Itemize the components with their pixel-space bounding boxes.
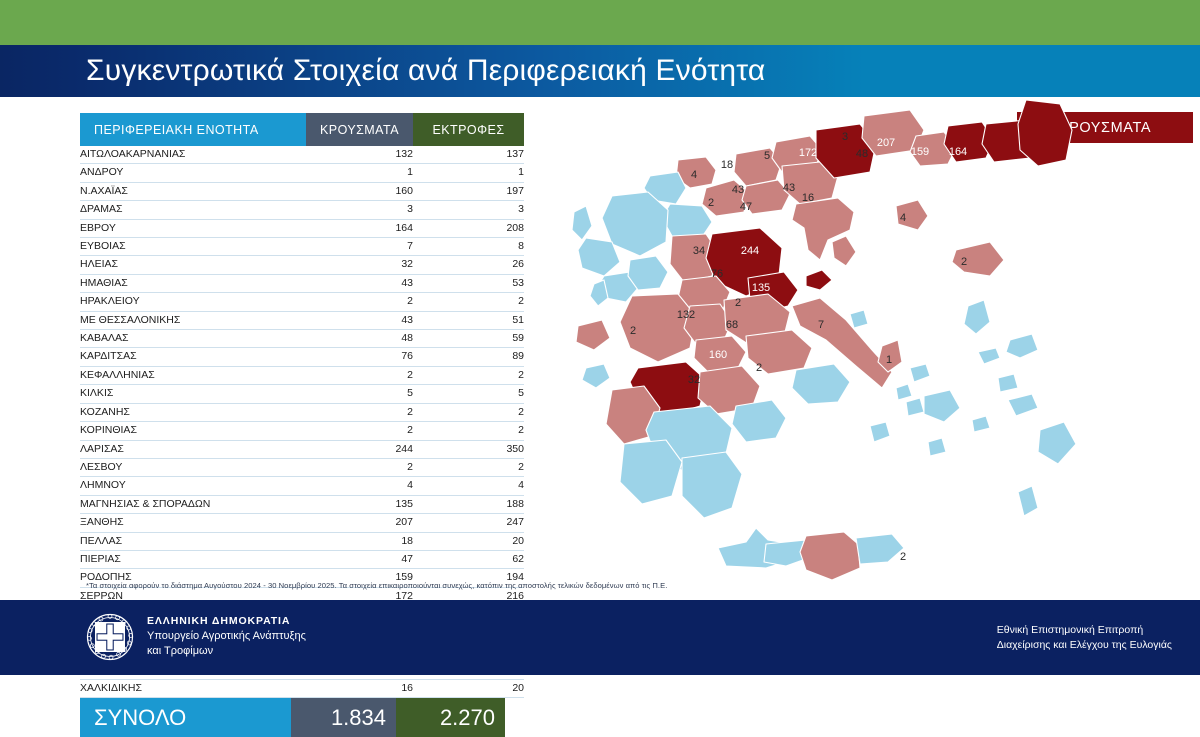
total-cases-value: 1.834	[291, 698, 396, 737]
cell-region: ΕΥΒΟΙΑΣ	[80, 238, 306, 256]
region-kos	[1008, 394, 1038, 416]
region-naxos	[924, 390, 960, 422]
region-zakynthos	[582, 364, 610, 388]
cell-region: ΑΙΤΩΛΟΑΚΑΡΝΑΝΙΑΣ	[80, 146, 306, 164]
title-banner: Συγκεντρωτικά Στοιχεία ανά Περιφερειακή …	[0, 45, 1200, 97]
cell-cases: 2	[306, 403, 413, 421]
committee-line-1: Εθνική Επιστημονική Επιτροπή	[997, 623, 1172, 638]
cell-cases: 43	[306, 274, 413, 292]
cell-region: ΛΕΣΒΟΥ	[80, 458, 306, 476]
cell-culls: 137	[413, 146, 524, 164]
ministry-line-3: και Τροφίμων	[147, 644, 306, 660]
table-row: ΛΗΜΝΟΥ44	[80, 477, 524, 495]
cell-cases: 76	[306, 348, 413, 366]
cell-cases: 2	[306, 458, 413, 476]
region-karpathos	[1018, 486, 1038, 516]
table-row: ΔΡΑΜΑΣ33	[80, 201, 524, 219]
ministry-text-block: ΕΛΛΗΝΙΚΗ ΔΗΜΟΚΡΑΤΙΑ Υπουργείο Αγροτικής …	[147, 614, 306, 660]
region-arta	[628, 256, 668, 290]
ministry-line-2: Υπουργείο Αγροτικής Ανάπτυξης	[147, 629, 306, 645]
region-evros	[1018, 100, 1072, 166]
region-kalymnos	[998, 374, 1018, 392]
cell-cases: 132	[306, 146, 413, 164]
table-row: ΛΕΣΒΟΥ22	[80, 458, 524, 476]
total-row: ΣΥΝΟΛΟ 1.834 2.270	[80, 698, 505, 737]
cell-cases: 43	[306, 311, 413, 329]
greece-choropleth-map: 3172482071591641854434324716423424476135…	[520, 100, 1200, 580]
table-row: ΚΟΖΑΝΗΣ22	[80, 403, 524, 421]
table-row: ΕΒΡΟΥ164208	[80, 219, 524, 237]
cell-cases: 32	[306, 256, 413, 274]
ministry-line-1: ΕΛΛΗΝΙΚΗ ΔΗΜΟΚΡΑΤΙΑ	[147, 614, 306, 629]
footer-ministry-block: ΕΛΛΗΝΙΚΗ ΔΗΜΟΚΡΑΤΙΑ Υπουργείο Αγροτικής …	[86, 613, 306, 661]
cell-region: ΛΗΜΝΟΥ	[80, 477, 306, 495]
region-skyros	[850, 310, 868, 328]
region-thira	[928, 438, 946, 456]
table-row: ΗΜΑΘΙΑΣ4353	[80, 274, 524, 292]
cell-region: ΛΑΡΙΣΑΣ	[80, 440, 306, 458]
cell-culls: 2	[413, 293, 524, 311]
cell-cases: 48	[306, 330, 413, 348]
cell-culls: 3	[413, 201, 524, 219]
cell-region: ΚΕΦΑΛΛΗΝΙΑΣ	[80, 366, 306, 384]
cell-region: ΠΙΕΡΙΑΣ	[80, 550, 306, 568]
cell-culls: 188	[413, 495, 524, 513]
cell-cases: 164	[306, 219, 413, 237]
table-row: ΠΕΛΛΑΣ1820	[80, 532, 524, 550]
region-paros	[906, 398, 924, 416]
table-row: ΠΙΕΡΙΑΣ4762	[80, 550, 524, 568]
region-argolida	[732, 400, 786, 442]
region-kerkyra	[572, 206, 592, 240]
cell-cases: 244	[306, 440, 413, 458]
region-syros	[896, 384, 912, 400]
table-row: ΜΑΓΝΗΣΙΑΣ & ΣΠΟΡΑΔΩΝ135188	[80, 495, 524, 513]
page-title: Συγκεντρωτικά Στοιχεία ανά Περιφερειακή …	[86, 54, 765, 88]
cell-culls: 2	[413, 366, 524, 384]
cell-cases: 47	[306, 550, 413, 568]
cell-region: ΧΑΛΚΙΔΙΚΗΣ	[80, 679, 306, 697]
cell-culls: 51	[413, 311, 524, 329]
table-row: ΚΑΒΑΛΑΣ4859	[80, 330, 524, 348]
greek-republic-emblem-icon	[86, 613, 134, 661]
cell-culls: 59	[413, 330, 524, 348]
region-rodos	[1038, 422, 1076, 464]
cell-region: ΔΡΑΜΑΣ	[80, 201, 306, 219]
region-milos	[870, 422, 890, 442]
cell-culls: 8	[413, 238, 524, 256]
cell-culls: 2	[413, 458, 524, 476]
column-header-culls: ΕΚΤΡΟΦΕΣ	[413, 113, 524, 146]
cell-culls: 89	[413, 348, 524, 366]
column-header-region: ΠΕΡΙΦΕΡΕΙΑΚΗ ΕΝΟΤΗΤΑ	[80, 113, 306, 146]
total-culls-value: 2.270	[396, 698, 505, 737]
total-label: ΣΥΝΟΛΟ	[80, 698, 291, 737]
region-ikaria	[978, 348, 1000, 364]
cell-cases: 1	[306, 164, 413, 182]
cell-culls: 247	[413, 514, 524, 532]
cell-region: ΚΟΡΙΝΘΙΑΣ	[80, 422, 306, 440]
committee-line-2: Διαχείρισης και Ελέγχου της Ευλογιάς	[997, 638, 1172, 653]
region-viotia	[746, 330, 812, 374]
region-chios	[964, 300, 990, 334]
table-row: ΑΙΤΩΛΟΑΚΑΡΝΑΝΙΑΣ132137	[80, 146, 524, 164]
map-svg	[520, 100, 1200, 580]
cell-region: ΑΝΔΡΟΥ	[80, 164, 306, 182]
cell-culls: 20	[413, 532, 524, 550]
footnote-text: *Τα στοιχεία αφορούν το διάστημα Αυγούστ…	[86, 581, 846, 590]
region-attiki	[792, 364, 850, 404]
cell-region: ΠΕΛΛΑΣ	[80, 532, 306, 550]
cell-culls: 208	[413, 219, 524, 237]
region-imathia	[742, 180, 790, 214]
table-row: ΚΑΡΔΙΤΣΑΣ7689	[80, 348, 524, 366]
region-samos	[1006, 334, 1038, 358]
cell-culls: 62	[413, 550, 524, 568]
table-row: ΧΑΛΚΙΔΙΚΗΣ1620	[80, 679, 524, 697]
cell-cases: 4	[306, 477, 413, 495]
cell-culls: 350	[413, 440, 524, 458]
cell-region: ΗΡΑΚΛΕΙΟΥ	[80, 293, 306, 311]
cell-region: ΞΑΝΘΗΣ	[80, 514, 306, 532]
region-kozani	[702, 180, 748, 216]
region-limnos	[896, 200, 928, 230]
region-lakonia	[682, 452, 742, 518]
cell-cases: 135	[306, 495, 413, 513]
cell-cases: 5	[306, 385, 413, 403]
region-lasithi	[856, 534, 904, 564]
cell-region: ΚΙΛΚΙΣ	[80, 385, 306, 403]
region-sporades	[806, 270, 832, 290]
table-row: ΚΟΡΙΝΘΙΑΣ22	[80, 422, 524, 440]
cell-region: ΗΛΕΙΑΣ	[80, 256, 306, 274]
cell-cases: 16	[306, 679, 413, 697]
table-row: ΗΛΕΙΑΣ3226	[80, 256, 524, 274]
table-row: ΛΑΡΙΣΑΣ244350	[80, 440, 524, 458]
cell-region: Ν.ΑΧΑΪΑΣ	[80, 182, 306, 200]
cell-culls: 53	[413, 274, 524, 292]
cell-culls: 26	[413, 256, 524, 274]
cell-cases: 3	[306, 201, 413, 219]
region-tinos-mykonos	[910, 364, 930, 382]
table-row: ΞΑΝΘΗΣ207247	[80, 514, 524, 532]
cell-region: ΚΟΖΑΝΗΣ	[80, 403, 306, 421]
cell-cases: 2	[306, 366, 413, 384]
cell-cases: 207	[306, 514, 413, 532]
cell-culls: 4	[413, 477, 524, 495]
cell-cases: 2	[306, 293, 413, 311]
cell-culls: 5	[413, 385, 524, 403]
table-row: ΚΙΛΚΙΣ55	[80, 385, 524, 403]
table-row: ΜΕ ΘΕΣΣΑΛΟΝΙΚΗΣ4351	[80, 311, 524, 329]
cell-culls: 1	[413, 164, 524, 182]
cell-cases: 160	[306, 182, 413, 200]
column-header-cases: ΚΡΟΥΣΜΑΤΑ	[306, 113, 413, 146]
region-kefallinia	[576, 320, 610, 350]
cell-region: ΜΑΓΝΗΣΙΑΣ & ΣΠΟΡΑΔΩΝ	[80, 495, 306, 513]
cell-region: ΜΕ ΘΕΣΣΑΛΟΝΙΚΗΣ	[80, 311, 306, 329]
region-lesvos	[952, 242, 1004, 276]
region-messinia	[620, 440, 682, 504]
cell-culls: 2	[413, 403, 524, 421]
cell-cases: 18	[306, 532, 413, 550]
cell-region: ΕΒΡΟΥ	[80, 219, 306, 237]
region-astypalaia	[972, 416, 990, 432]
table-row: ΗΡΑΚΛΕΙΟΥ22	[80, 293, 524, 311]
region-lefkada	[590, 280, 608, 306]
table-row: Ν.ΑΧΑΪΑΣ160197	[80, 182, 524, 200]
top-green-bar	[0, 0, 1200, 45]
table-header-row: ΠΕΡΙΦΕΡΕΙΑΚΗ ΕΝΟΤΗΤΑ ΚΡΟΥΣΜΑΤΑ ΕΚΤΡΟΦΕΣ	[80, 113, 524, 146]
table-row: ΕΥΒΟΙΑΣ78	[80, 238, 524, 256]
cell-cases: 7	[306, 238, 413, 256]
cell-region: ΚΑΡΔΙΤΣΑΣ	[80, 348, 306, 366]
cell-culls: 2	[413, 422, 524, 440]
table-row: ΚΕΦΑΛΛΗΝΙΑΣ22	[80, 366, 524, 384]
footer-committee-block: Εθνική Επιστημονική Επιτροπή Διαχείρισης…	[997, 623, 1172, 653]
region-athos-finger	[832, 236, 856, 266]
cell-culls: 197	[413, 182, 524, 200]
table-row: ΑΝΔΡΟΥ11	[80, 164, 524, 182]
cell-cases: 2	[306, 422, 413, 440]
cell-region: ΗΜΑΘΙΑΣ	[80, 274, 306, 292]
cell-culls: 20	[413, 679, 524, 697]
region-iraklio	[800, 532, 860, 580]
cell-region: ΚΑΒΑΛΑΣ	[80, 330, 306, 348]
